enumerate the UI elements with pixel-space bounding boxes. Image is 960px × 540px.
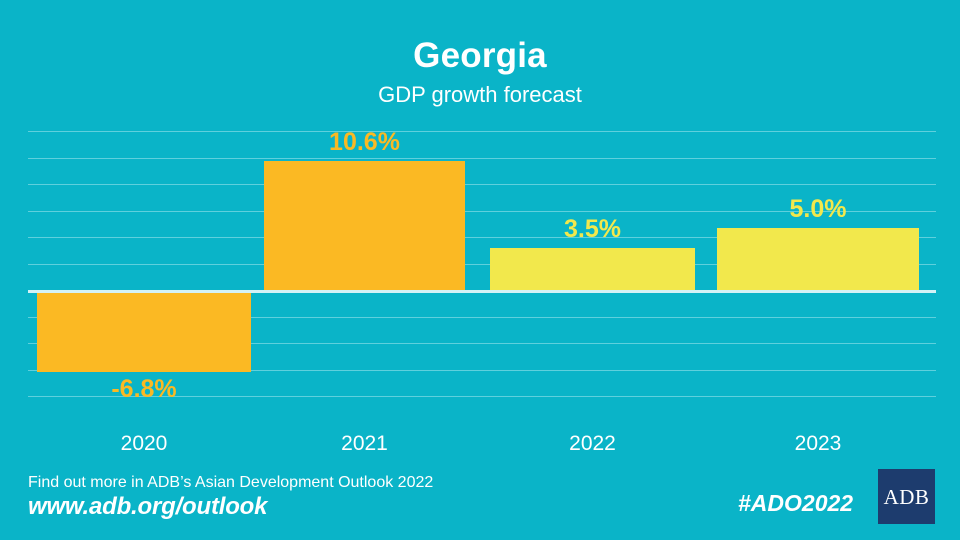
x-axis-label-2021: 2021 [264, 431, 465, 456]
footer-tagline: Find out more in ADB’s Asian Development… [28, 473, 433, 492]
adb-logo: ADB [878, 469, 935, 524]
value-label-2021: 10.6% [264, 128, 465, 157]
bar-chart-plot-area: -6.8% 10.6% 3.5% 5.0% [28, 126, 936, 422]
value-label-2023: 5.0% [717, 195, 919, 224]
x-axis-label-2023: 2023 [717, 431, 919, 456]
value-label-2022: 3.5% [490, 215, 695, 244]
zero-baseline [28, 290, 936, 293]
page-subtitle: GDP growth forecast [0, 82, 960, 108]
page-title: Georgia [0, 36, 960, 76]
gridline [28, 158, 936, 159]
footer-hashtag: #ADO2022 [738, 489, 853, 517]
value-label-2020: -6.8% [37, 375, 251, 404]
bar-2020[interactable] [37, 290, 251, 372]
gridline [28, 131, 936, 132]
footer-url[interactable]: www.adb.org/outlook [28, 492, 267, 521]
bar-2023[interactable] [717, 228, 919, 290]
adb-logo-text: ADB [884, 485, 930, 509]
x-axis-label-2022: 2022 [490, 431, 695, 456]
gridline [28, 184, 936, 185]
bar-2021[interactable] [264, 161, 465, 290]
x-axis-label-2020: 2020 [37, 431, 251, 456]
bar-2022[interactable] [490, 248, 695, 290]
infographic-canvas: Georgia GDP growth forecast -6.8% 10.6% … [0, 0, 960, 540]
